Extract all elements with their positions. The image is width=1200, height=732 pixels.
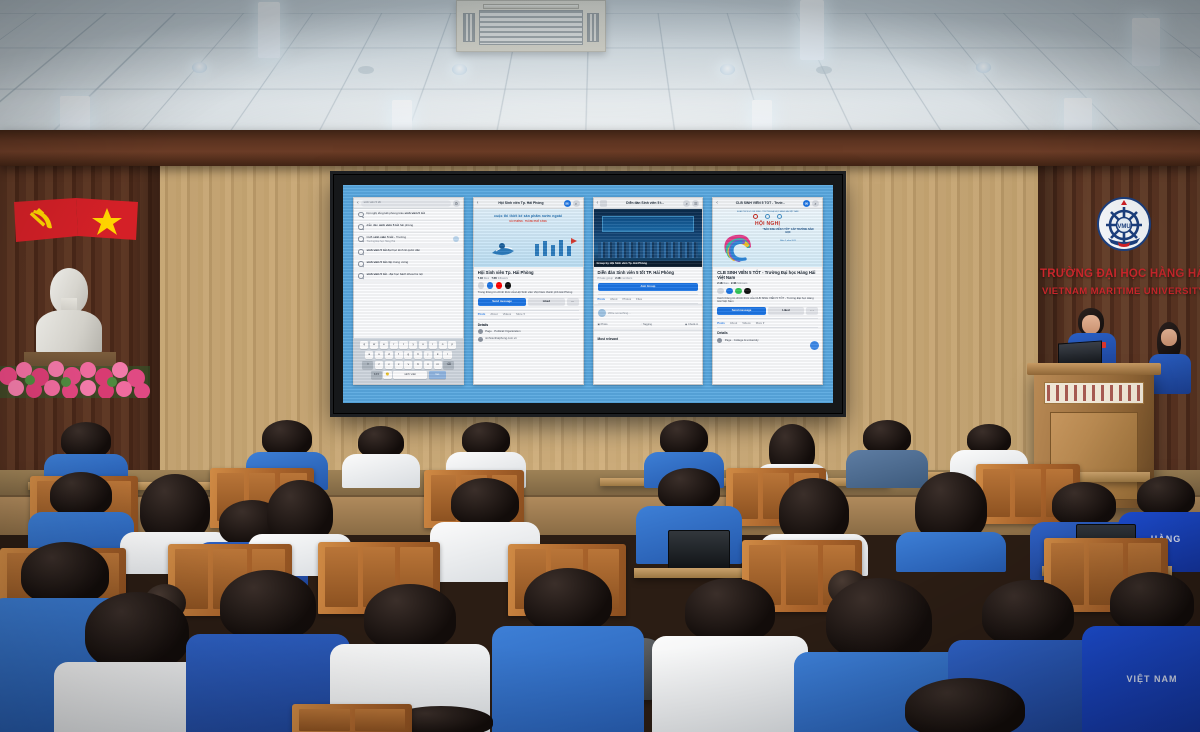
details-heading: Details bbox=[478, 323, 579, 327]
presenter-assistant bbox=[1148, 322, 1192, 392]
suggestion-text: sinh viên 5 tốt đại học kinh tế quốc dân bbox=[367, 249, 459, 253]
party-flag-emblem-icon bbox=[753, 214, 758, 219]
group-cover-photo: Group by Hội Sinh viên Tp. Hải Phòng bbox=[594, 209, 703, 267]
group-topbar: ‹ Diễn đàn Sinh viên 5 t... ⌕ ☰ bbox=[594, 198, 703, 209]
search-suggestion[interactable]: sinh viên 5 tốt - đại học bách khoa hà n… bbox=[354, 270, 463, 282]
hair bbox=[658, 468, 720, 510]
key[interactable]: h bbox=[414, 351, 422, 359]
people-icon[interactable] bbox=[717, 288, 724, 295]
jersey: VIỆT NAM bbox=[1082, 626, 1200, 732]
key[interactable]: i bbox=[429, 341, 437, 349]
suggestion-subtext: Trường Đại học Hàng Hải bbox=[367, 240, 450, 243]
page-title: CLB SINH VIÊN 5 TỐT - Trường Đại học Hàn… bbox=[717, 270, 818, 281]
composer-actions: ▣ Photo ◌ Tagging ◉ Check-in bbox=[594, 320, 703, 331]
page-header-title: Hội Sinh viên Tp. Hải Phòng bbox=[480, 201, 561, 205]
cover-headline: cuộc thi thiết kế sản phẩm nước ngoài bbox=[474, 214, 583, 218]
podium-decorative-band bbox=[1044, 382, 1144, 404]
hair bbox=[826, 578, 932, 660]
more-options-button[interactable]: ··· bbox=[567, 298, 579, 306]
venue-sign-english: VIETNAM MARITIME UNIVERSITY bbox=[1042, 286, 1200, 297]
send-message-button[interactable]: Send message bbox=[717, 307, 766, 315]
likes-label: likes bbox=[484, 277, 489, 280]
cover-subheadline: HẢI PHÒNG - THÀNH PHỐ CẢNG bbox=[474, 220, 583, 223]
keyboard-row-3: ⇧ z x c v b n m ⌫ bbox=[356, 361, 461, 369]
followers-label: followers bbox=[737, 282, 747, 285]
messenger-icon[interactable]: ✉ bbox=[564, 200, 571, 207]
liked-button[interactable]: Liked bbox=[528, 298, 564, 306]
facebook-icon[interactable] bbox=[726, 288, 733, 295]
projection-screen-bezel: ‹ sinh viên 5 tốt ⚙ hội nghị tổng kết ph… bbox=[333, 174, 843, 414]
tab-photos[interactable]: Photos bbox=[622, 298, 631, 301]
tab-about[interactable]: About bbox=[730, 322, 737, 325]
likes-count: 7.1K bbox=[478, 277, 483, 280]
conference-hall-photo: VMU TRƯỜNG ĐẠI HỌC HÀNG HẢI VIỆT NAM VIE… bbox=[0, 0, 1200, 732]
followers-count: 7.6K bbox=[491, 277, 496, 280]
back-chevron-icon[interactable]: ‹ bbox=[597, 201, 599, 206]
audience-area: HÀNG bbox=[0, 420, 1200, 732]
assistant-face bbox=[1161, 329, 1177, 346]
onscreen-keyboard[interactable]: q w e r t y u i o p a bbox=[354, 338, 463, 384]
tiktok-icon[interactable] bbox=[505, 282, 512, 289]
vmu-logo: VMU bbox=[1096, 196, 1152, 252]
boat-illustration-icon bbox=[490, 237, 530, 259]
key[interactable]: t bbox=[399, 341, 407, 349]
composer-checkin-button[interactable]: ◉ Check-in bbox=[685, 323, 698, 326]
port-cranes-icon bbox=[533, 236, 579, 258]
group-tabs: Posts About Photos Files bbox=[598, 294, 699, 304]
hair bbox=[61, 422, 111, 458]
tab-files[interactable]: Files bbox=[636, 298, 642, 301]
search-suggestion[interactable]: diễn đàn sinh viên 5 tốt hải phòng bbox=[354, 221, 463, 233]
social-links-row bbox=[478, 282, 579, 289]
suggestion-text: CLB sinh viên 5 tốt - Trường Trường Đại … bbox=[367, 236, 450, 243]
conference-attendees bbox=[598, 242, 699, 258]
phone-icon[interactable] bbox=[735, 288, 742, 295]
key[interactable]: o bbox=[439, 341, 447, 349]
hair bbox=[905, 678, 1025, 732]
page-info: Hội Sinh viên Tp. Hải Phòng 7.1K likes ·… bbox=[474, 267, 583, 342]
audience-member bbox=[896, 472, 1006, 572]
hair bbox=[982, 580, 1074, 646]
search-icon bbox=[358, 224, 364, 230]
party-and-national-flag-svg bbox=[12, 196, 140, 248]
key[interactable]: d bbox=[385, 351, 393, 359]
tab-posts[interactable]: Posts bbox=[717, 322, 725, 325]
menu-icon[interactable]: ☰ bbox=[692, 200, 699, 207]
key[interactable]: m bbox=[434, 361, 442, 369]
page-stats: 7.1K likes · 7.6K followers bbox=[478, 277, 579, 280]
keyboard-row-1: q w e r t y u i o p bbox=[356, 341, 461, 349]
chair-slats bbox=[299, 709, 405, 731]
people-icon[interactable] bbox=[478, 282, 485, 289]
key[interactable]: u bbox=[419, 341, 427, 349]
avatar bbox=[598, 309, 606, 317]
presenter-face bbox=[1082, 315, 1100, 334]
page-topbar: ‹ CLB SINH VIÊN 5 TỐT - Trườ... ✉ ⌕ bbox=[713, 198, 822, 209]
screenshot-panel-page-hoi-sinh-vien: ‹ Hội Sinh viên Tp. Hải Phòng ✉ ⌕ cuộc t… bbox=[473, 197, 584, 385]
page-info: CLB SINH VIÊN 5 TỐT - Trường Đại học Hàn… bbox=[713, 267, 822, 343]
search-icon[interactable]: ⌕ bbox=[573, 200, 580, 207]
colorful-knot-logo-icon bbox=[721, 229, 755, 263]
search-icon bbox=[358, 273, 364, 279]
page-action-buttons: Send message Liked ··· bbox=[717, 307, 818, 315]
audience-member bbox=[342, 426, 420, 488]
send-message-button[interactable]: Send message bbox=[478, 298, 527, 306]
hair bbox=[364, 584, 456, 650]
key[interactable]: p bbox=[448, 341, 456, 349]
group-title: Diễn đàn Sinh viên 5 tốt TP. Hải Phòng bbox=[598, 270, 699, 275]
tab-about[interactable]: About bbox=[490, 313, 497, 316]
join-group-button[interactable]: Join Group bbox=[598, 283, 699, 291]
school-emblem-icon bbox=[777, 214, 782, 219]
search-input[interactable]: sinh viên 5 tốt bbox=[361, 200, 451, 207]
flag-icon bbox=[478, 329, 483, 334]
tab-posts[interactable]: Posts bbox=[598, 298, 606, 301]
key[interactable]: y bbox=[409, 341, 417, 349]
youtube-icon[interactable] bbox=[496, 282, 503, 289]
likes-label: likes bbox=[723, 282, 728, 285]
page-topbar: ‹ Hội Sinh viên Tp. Hải Phòng ✉ ⌕ bbox=[474, 198, 583, 209]
hair bbox=[462, 422, 510, 456]
flags-group bbox=[12, 196, 140, 248]
search-suggestion[interactable]: sinh viên 5 tốt đại học kinh tế quốc dân bbox=[354, 246, 463, 258]
audience-member-foreground bbox=[880, 678, 1050, 732]
backspace-key[interactable]: ⌫ bbox=[443, 361, 454, 369]
composer-placeholder: Write something... bbox=[608, 312, 698, 315]
members-label: members bbox=[621, 277, 632, 280]
composer-tag-button[interactable]: ◌ Tagging bbox=[641, 323, 652, 326]
group-header-title: Diễn đàn Sinh viên 5 t... bbox=[609, 201, 681, 205]
more-options-button[interactable]: ··· bbox=[806, 307, 818, 315]
composer-photo-button[interactable]: ▣ Photo bbox=[598, 323, 608, 326]
key[interactable]: b bbox=[414, 361, 422, 369]
messenger-fab-icon[interactable] bbox=[810, 341, 819, 350]
key[interactable]: a bbox=[365, 351, 373, 359]
ceiling bbox=[0, 0, 1200, 138]
hair bbox=[85, 592, 189, 670]
search-suggestion[interactable]: sinh viên 5 tốt cấp trung ương bbox=[354, 258, 463, 270]
messenger-icon[interactable]: ✉ bbox=[803, 200, 810, 207]
tab-videos[interactable]: Videos bbox=[503, 313, 512, 316]
liked-button[interactable]: Liked bbox=[768, 307, 804, 315]
page-cover-photo: cuộc thi thiết kế sản phẩm nước ngoài HẢ… bbox=[474, 209, 583, 267]
likes-count: 2.1K bbox=[717, 282, 722, 285]
search-icon bbox=[358, 236, 364, 242]
page-description: Kênh thông tin chính thức của CLB SINH V… bbox=[717, 297, 818, 304]
screenshot-panel-search: ‹ sinh viên 5 tốt ⚙ hội nghị tổng kết ph… bbox=[353, 197, 464, 385]
flowers-svg bbox=[0, 336, 150, 398]
venue-sign-vietnamese: TRƯỜNG ĐẠI HỌC HÀNG HẢI VIỆT NAM bbox=[1040, 268, 1200, 280]
members-count: 2.4K bbox=[615, 277, 620, 280]
feed-sort: Most relevant bbox=[594, 331, 703, 341]
chair-foreground bbox=[292, 704, 412, 732]
key[interactable]: j bbox=[424, 351, 432, 359]
gear-icon[interactable]: ⚙ bbox=[453, 200, 460, 207]
feed-sort-label[interactable]: Most relevant bbox=[598, 337, 699, 341]
back-chevron-icon[interactable]: ‹ bbox=[716, 201, 718, 206]
hair bbox=[863, 420, 911, 454]
key[interactable]: g bbox=[404, 351, 412, 359]
hair bbox=[1052, 482, 1116, 526]
ceiling-shading bbox=[0, 0, 1200, 138]
tab-more[interactable]: More ▾ bbox=[756, 322, 765, 325]
followers-count: 2.4K bbox=[731, 282, 736, 285]
group-thumbnail-icon bbox=[600, 200, 607, 207]
audience-member: VIỆT NAM bbox=[1082, 572, 1200, 732]
key[interactable]: x bbox=[385, 361, 393, 369]
conference-backdrop bbox=[602, 216, 695, 232]
key[interactable]: k bbox=[434, 351, 442, 359]
group-stats: Private group · 2.4K members bbox=[598, 277, 699, 280]
hair bbox=[685, 578, 775, 642]
back-chevron-icon[interactable]: ‹ bbox=[357, 201, 359, 206]
cover-date: Năm 2, năm 2021 bbox=[768, 240, 808, 243]
hair bbox=[50, 472, 112, 516]
jersey-text: VIỆT NAM bbox=[1126, 674, 1177, 684]
detail-website-text: sinhvienhaiphong.com.vn bbox=[485, 337, 517, 340]
vmu-logo-svg: VMU bbox=[1096, 196, 1152, 252]
hair bbox=[524, 568, 612, 632]
key[interactable]: n bbox=[424, 361, 432, 369]
suggestion-text: sinh viên 5 tốt - đại học bách khoa hà n… bbox=[367, 273, 459, 277]
social-links-row bbox=[717, 288, 818, 295]
tab-videos[interactable]: Videos bbox=[742, 322, 751, 325]
hair bbox=[451, 478, 519, 526]
vmu-logo-text: VMU bbox=[1117, 224, 1130, 230]
suggestion-text: diễn đàn sinh viên 5 tốt hải phòng bbox=[367, 224, 459, 228]
group-info: Diễn đàn Sinh viên 5 tốt TP. Hải Phòng P… bbox=[594, 267, 703, 304]
key[interactable]: f bbox=[395, 351, 403, 359]
page-title: Hội Sinh viên Tp. Hải Phòng bbox=[478, 270, 579, 275]
audience-member bbox=[652, 578, 808, 732]
audience-laptop bbox=[668, 530, 730, 572]
search-icon bbox=[358, 212, 364, 218]
screenshot-panel-group-dien-dan: ‹ Diễn đàn Sinh viên 5 t... ⌕ ☰ Group by… bbox=[593, 197, 704, 385]
spacebar-key[interactable]: sinh viên bbox=[393, 371, 427, 379]
details-heading: Details bbox=[717, 331, 818, 335]
key[interactable]: z bbox=[375, 361, 383, 369]
search-suggestion[interactable]: hội nghị tổng kết phong trào sinh viên 5… bbox=[354, 209, 463, 221]
search-icon[interactable]: ⌕ bbox=[812, 200, 819, 207]
go-key[interactable]: Go bbox=[429, 371, 446, 379]
emoji-icon[interactable]: 🙂 bbox=[383, 371, 391, 379]
keyboard-row-4: 123 🙂 sinh viên Go bbox=[356, 371, 461, 379]
audience-member bbox=[492, 568, 644, 732]
key[interactable]: c bbox=[395, 361, 403, 369]
numbers-key[interactable]: 123 bbox=[371, 371, 382, 379]
facebook-icon[interactable] bbox=[487, 282, 494, 289]
link-icon bbox=[478, 337, 483, 342]
search-topbar: ‹ sinh viên 5 tốt ⚙ bbox=[354, 198, 463, 209]
youth-union-emblem-icon bbox=[765, 214, 770, 219]
suggestion-text: sinh viên 5 tốt cấp trung ương bbox=[367, 261, 459, 265]
cover-subtitle: "BÁO SINH VIÊN 5 TỐT" CẤP TRƯỜNG NĂM HỌC bbox=[762, 228, 814, 234]
shift-key[interactable]: ⇧ bbox=[362, 361, 373, 369]
hair bbox=[1137, 476, 1195, 516]
keyboard-row-2: a s d f g h j k l bbox=[356, 351, 461, 359]
detail-category: Page · Political Organization bbox=[478, 329, 579, 334]
hair bbox=[660, 420, 708, 456]
suggestion-avatar bbox=[453, 236, 459, 242]
hair bbox=[1110, 572, 1194, 632]
projection-screen: ‹ sinh viên 5 tốt ⚙ hội nghị tổng kết ph… bbox=[343, 185, 833, 403]
cover-emblems-row bbox=[713, 214, 822, 219]
slide-content: ‹ sinh viên 5 tốt ⚙ hội nghị tổng kết ph… bbox=[353, 197, 823, 379]
search-icon bbox=[358, 249, 364, 255]
page-action-buttons: Send message Liked ··· bbox=[478, 298, 579, 306]
page-tabs: Posts About Videos More ▾ bbox=[478, 310, 579, 320]
detail-category: Page · College & university bbox=[717, 338, 818, 343]
detail-category-text: Page · Political Organization bbox=[485, 330, 520, 333]
page-tabs: Posts About Videos More ▾ bbox=[717, 318, 818, 328]
podium-top-ledge bbox=[1027, 363, 1161, 375]
shirt bbox=[652, 636, 808, 732]
key[interactable]: v bbox=[404, 361, 412, 369]
cover-hoinghi-title: HỘI NGHỊ bbox=[713, 221, 822, 227]
key[interactable]: w bbox=[370, 341, 378, 349]
tab-more[interactable]: More ▾ bbox=[516, 313, 525, 316]
tiktok-icon[interactable] bbox=[744, 288, 751, 295]
group-privacy: Private group bbox=[598, 277, 613, 280]
page-stats: 2.1K likes · 2.4K followers bbox=[717, 282, 818, 285]
back-chevron-icon[interactable]: ‹ bbox=[477, 201, 479, 206]
hair bbox=[220, 570, 316, 640]
screenshot-panel-page-clb: ‹ CLB SINH VIÊN 5 TỐT - Trườ... ✉ ⌕ ĐOÀN… bbox=[712, 197, 823, 385]
flower-arrangement bbox=[0, 336, 150, 398]
search-icon bbox=[358, 261, 364, 267]
page-description: Trang thông tin chính thức của Hội Sinh … bbox=[478, 291, 579, 295]
shirt bbox=[342, 454, 420, 488]
wall-trim-beam bbox=[0, 130, 1200, 166]
key[interactable]: e bbox=[380, 341, 388, 349]
page-cover-photo: ĐOÀN TNCS HỒ CHÍ MINH - TRƯỜNG ĐẠI HỌC H… bbox=[713, 209, 822, 267]
hair bbox=[262, 420, 312, 456]
shirt bbox=[492, 626, 644, 732]
post-composer[interactable]: Write something... bbox=[594, 304, 703, 320]
cover-caption: Group by Hội Sinh viên Tp. Hải Phòng bbox=[594, 261, 703, 267]
search-suggestion[interactable]: CLB sinh viên 5 tốt - Trường Trường Đại … bbox=[354, 233, 463, 246]
key[interactable]: l bbox=[443, 351, 451, 359]
key[interactable]: r bbox=[390, 341, 398, 349]
suggestion-text: hội nghị tổng kết phong trào sinh viên 5… bbox=[367, 212, 459, 216]
flag-icon bbox=[717, 338, 722, 343]
detail-category-text: Page · College & university bbox=[725, 339, 759, 342]
detail-website[interactable]: sinhvienhaiphong.com.vn bbox=[478, 337, 579, 342]
tab-posts[interactable]: Posts bbox=[478, 313, 486, 316]
key[interactable]: q bbox=[360, 341, 368, 349]
key[interactable]: s bbox=[375, 351, 383, 359]
search-icon[interactable]: ⌕ bbox=[683, 200, 690, 207]
page-header-title: CLB SINH VIÊN 5 TỐT - Trườ... bbox=[720, 201, 801, 205]
followers-label: followers bbox=[498, 277, 508, 280]
tab-about[interactable]: About bbox=[610, 298, 617, 301]
